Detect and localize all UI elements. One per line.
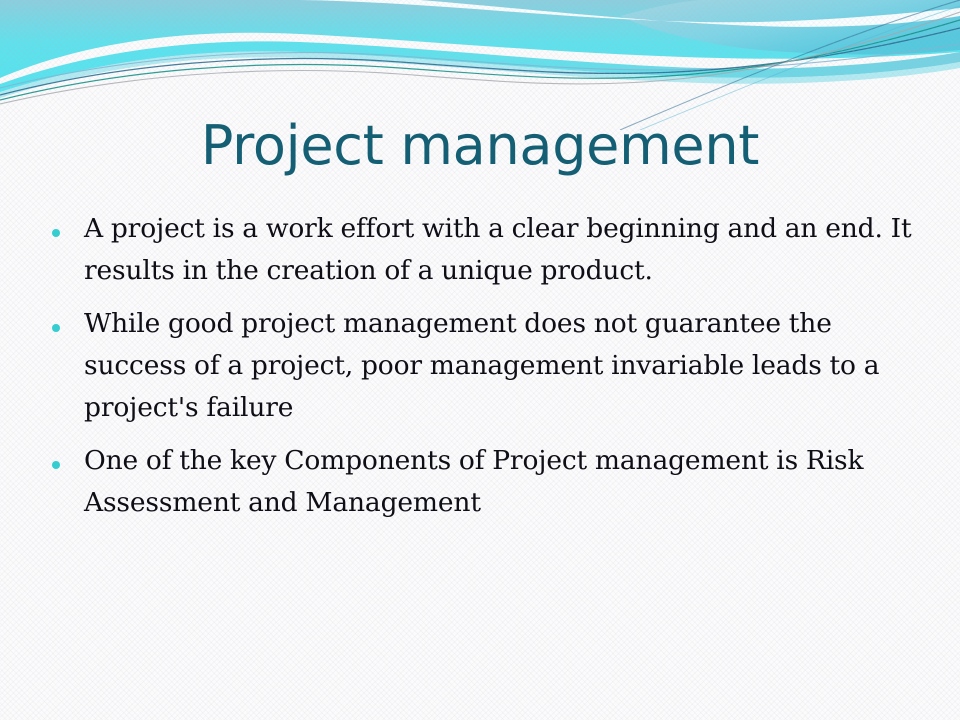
slide-body-content: A project is a work effort with a clear … [52,208,912,535]
slide-title: Project management [0,118,960,175]
flow-wave-banner [0,0,960,130]
presentation-slide: Project management A project is a work e… [0,0,960,720]
bullet-dot-icon [52,303,84,337]
bullet-text: While good project management does not g… [84,303,912,429]
bullet-text: One of the key Components of Project man… [84,440,912,524]
list-item: One of the key Components of Project man… [52,440,912,524]
bullet-text: A project is a work effort with a clear … [84,208,912,292]
bullet-dot-icon [52,208,84,242]
list-item: A project is a work effort with a clear … [52,208,912,292]
bullet-dot-icon [52,440,84,474]
list-item: While good project management does not g… [52,303,912,429]
